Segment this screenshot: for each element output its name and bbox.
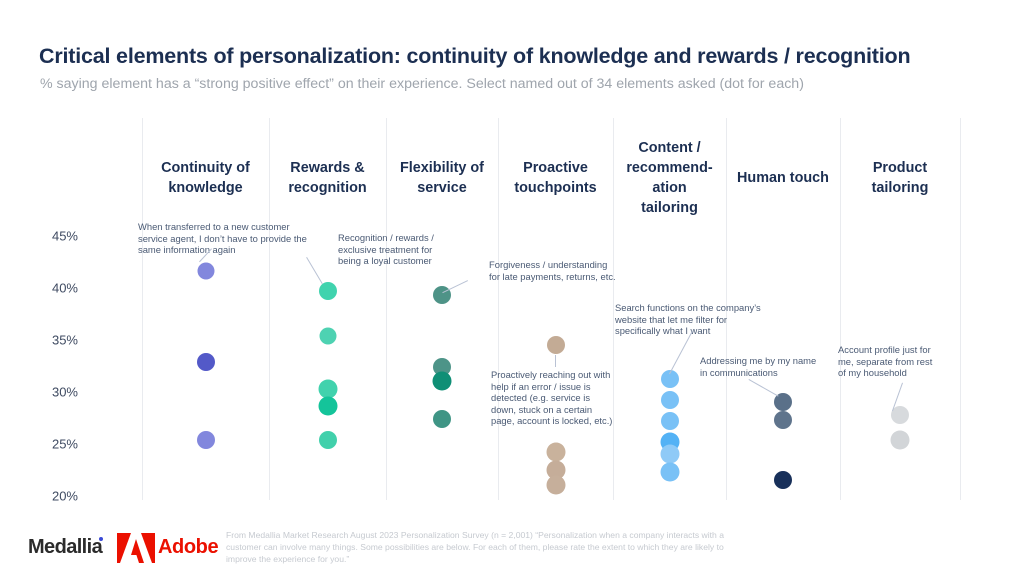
y-axis-tick-30: 30% bbox=[18, 384, 78, 399]
data-point-dot[interactable] bbox=[774, 471, 792, 489]
y-axis-tick-25: 25% bbox=[18, 436, 78, 451]
annotation-label: Forgiveness / understanding for late pay… bbox=[489, 259, 617, 282]
data-point-dot[interactable] bbox=[547, 336, 565, 354]
data-point-dot[interactable] bbox=[319, 327, 336, 344]
annotation-label: Proactively reaching out with help if an… bbox=[491, 369, 613, 427]
data-point-dot[interactable] bbox=[774, 411, 792, 429]
chart-column: Producttailoring bbox=[840, 118, 960, 518]
medallia-logo: Medallia bbox=[28, 536, 102, 559]
annotation-label: Recognition / rewards / exclusive treatm… bbox=[338, 232, 450, 267]
column-header-line: tailoring bbox=[613, 198, 726, 218]
slide-root: Critical elements of personalization: co… bbox=[0, 0, 1024, 576]
column-header-line: service bbox=[386, 178, 498, 198]
column-header-line: Proactive bbox=[498, 158, 613, 178]
chart-column: Continuity ofknowledge bbox=[142, 118, 269, 518]
data-point-dot[interactable] bbox=[197, 431, 215, 449]
y-axis-tick-40: 40% bbox=[18, 280, 78, 295]
medallia-logo-text: Medallia bbox=[28, 536, 102, 558]
y-axis-tick-35: 35% bbox=[18, 332, 78, 347]
column-header: Producttailoring bbox=[840, 158, 960, 198]
data-point-dot[interactable] bbox=[197, 262, 214, 279]
data-point-dot[interactable] bbox=[433, 372, 452, 391]
y-axis-tick-45: 45% bbox=[18, 228, 78, 243]
column-header-line: knowledge bbox=[142, 178, 269, 198]
data-point-dot[interactable] bbox=[661, 391, 679, 409]
column-divider bbox=[960, 118, 961, 500]
column-header-line: Human touch bbox=[726, 168, 840, 188]
column-header-line: tailoring bbox=[840, 178, 960, 198]
column-header: Human touch bbox=[726, 168, 840, 188]
chart-column: Rewards &recognition bbox=[269, 118, 386, 518]
y-axis-tick-20: 20% bbox=[18, 489, 78, 504]
column-header: Content /recommend-ationtailoring bbox=[613, 138, 726, 218]
data-point-dot[interactable] bbox=[318, 397, 337, 416]
column-header-line: Content / bbox=[613, 138, 726, 158]
data-point-dot[interactable] bbox=[433, 410, 451, 428]
data-point-dot[interactable] bbox=[660, 463, 679, 482]
annotation-label: Addressing me by my name in communicatio… bbox=[700, 355, 826, 378]
source-note: From Medallia Market Research August 202… bbox=[226, 529, 736, 566]
column-header-line: recognition bbox=[269, 178, 386, 198]
annotation-label: Account profile just for me, separate fr… bbox=[838, 344, 938, 379]
annotation-label: When transferred to a new customer servi… bbox=[138, 221, 310, 256]
scatter-plot: 45%40%35%30%25%20%Continuity ofknowledge… bbox=[0, 118, 1024, 518]
page-subtitle: % saying element has a “strong positive … bbox=[40, 76, 804, 92]
adobe-logo-text: Adobe bbox=[158, 536, 218, 559]
column-header: Flexibility ofservice bbox=[386, 158, 498, 198]
annotation-leader-line bbox=[555, 355, 556, 367]
data-point-dot[interactable] bbox=[891, 430, 910, 449]
page-title: Critical elements of personalization: co… bbox=[39, 44, 910, 69]
data-point-dot[interactable] bbox=[319, 431, 337, 449]
column-header-line: Product bbox=[840, 158, 960, 178]
chart-column: Flexibility ofservice bbox=[386, 118, 498, 518]
column-header: Proactivetouchpoints bbox=[498, 158, 613, 198]
column-header-line: Continuity of bbox=[142, 158, 269, 178]
data-point-dot[interactable] bbox=[197, 353, 215, 371]
data-point-dot[interactable] bbox=[546, 443, 565, 462]
column-header: Rewards &recognition bbox=[269, 158, 386, 198]
column-header-line: ation bbox=[613, 178, 726, 198]
data-point-dot[interactable] bbox=[661, 412, 679, 430]
medallia-logo-dot-icon bbox=[99, 537, 103, 541]
column-header-line: recommend- bbox=[613, 158, 726, 178]
column-header-line: touchpoints bbox=[498, 178, 613, 198]
column-header: Continuity ofknowledge bbox=[142, 158, 269, 198]
column-header-line: Rewards & bbox=[269, 158, 386, 178]
data-point-dot[interactable] bbox=[660, 445, 679, 464]
data-point-dot[interactable] bbox=[318, 379, 337, 398]
adobe-logo-icon bbox=[117, 533, 155, 563]
data-point-dot[interactable] bbox=[546, 475, 565, 494]
column-header-line: Flexibility of bbox=[386, 158, 498, 178]
